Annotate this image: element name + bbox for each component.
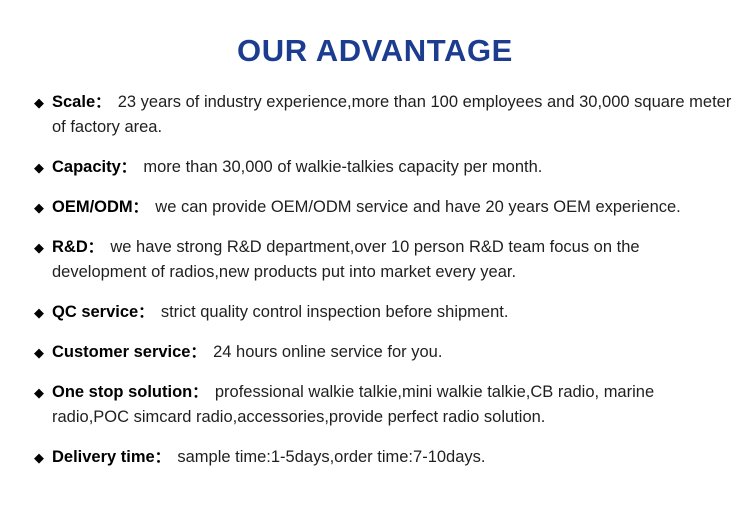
- list-item-body: One stop solution： professional walkie t…: [52, 380, 732, 430]
- list-item-body: OEM/ODM： we can provide OEM/ODM service …: [52, 195, 732, 220]
- list-item: ◆ R&D： we have strong R&D department,ove…: [0, 235, 750, 285]
- diamond-bullet-icon: ◆: [34, 380, 44, 405]
- list-item-body: Capacity： more than 30,000 of walkie-tal…: [52, 155, 732, 180]
- list-item-label: OEM/ODM: [52, 198, 133, 216]
- list-item-body: QC service： strict quality control inspe…: [52, 300, 732, 325]
- list-item-text: 24 hours online service for you.: [213, 343, 442, 361]
- list-item-text: we have strong R&D department,over 10 pe…: [52, 238, 640, 281]
- list-item-body: Customer service： 24 hours online servic…: [52, 340, 732, 365]
- list-item-label: Scale: [52, 93, 95, 111]
- list-item-text: more than 30,000 of walkie-talkies capac…: [143, 158, 542, 176]
- list-item-label: R&D: [52, 238, 88, 256]
- label-separator: ：: [121, 159, 139, 176]
- list-item-text: we can provide OEM/ODM service and have …: [155, 198, 680, 216]
- list-item-body: Delivery time： sample time:1-5days,order…: [52, 445, 732, 470]
- list-item: ◆ QC service： strict quality control ins…: [0, 300, 750, 325]
- list-item-text: strict quality control inspection before…: [161, 303, 509, 321]
- list-item-label: Delivery time: [52, 448, 155, 466]
- advantage-page: OUR ADVANTAGE ◆ Scale： 23 years of indus…: [0, 0, 750, 525]
- list-item-body: R&D： we have strong R&D department,over …: [52, 235, 732, 285]
- list-item: ◆ Delivery time： sample time:1-5days,ord…: [0, 445, 750, 470]
- advantage-list: ◆ Scale： 23 years of industry experience…: [0, 90, 750, 470]
- page-title: OUR ADVANTAGE: [0, 0, 750, 68]
- label-separator: ：: [191, 344, 209, 361]
- label-separator: ：: [133, 199, 151, 216]
- diamond-bullet-icon: ◆: [34, 90, 44, 115]
- list-item-label: Customer service: [52, 343, 191, 361]
- diamond-bullet-icon: ◆: [34, 340, 44, 365]
- label-separator: ：: [192, 384, 210, 401]
- list-item: ◆ Scale： 23 years of industry experience…: [0, 90, 750, 140]
- diamond-bullet-icon: ◆: [34, 155, 44, 180]
- label-separator: ：: [95, 94, 113, 111]
- list-item: ◆ Capacity： more than 30,000 of walkie-t…: [0, 155, 750, 180]
- list-item-label: Capacity: [52, 158, 121, 176]
- list-item-text: sample time:1-5days,order time:7-10days.: [177, 448, 485, 466]
- list-item-label: One stop solution: [52, 383, 192, 401]
- label-separator: ：: [155, 449, 173, 466]
- diamond-bullet-icon: ◆: [34, 235, 44, 260]
- label-separator: ：: [88, 239, 106, 256]
- list-item-body: Scale： 23 years of industry experience,m…: [52, 90, 732, 140]
- diamond-bullet-icon: ◆: [34, 445, 44, 470]
- diamond-bullet-icon: ◆: [34, 300, 44, 325]
- diamond-bullet-icon: ◆: [34, 195, 44, 220]
- label-separator: ：: [138, 304, 156, 321]
- list-item-text: 23 years of industry experience,more tha…: [52, 93, 731, 136]
- list-item: ◆ One stop solution： professional walkie…: [0, 380, 750, 430]
- list-item: ◆ OEM/ODM： we can provide OEM/ODM servic…: [0, 195, 750, 220]
- list-item: ◆ Customer service： 24 hours online serv…: [0, 340, 750, 365]
- list-item-label: QC service: [52, 303, 138, 321]
